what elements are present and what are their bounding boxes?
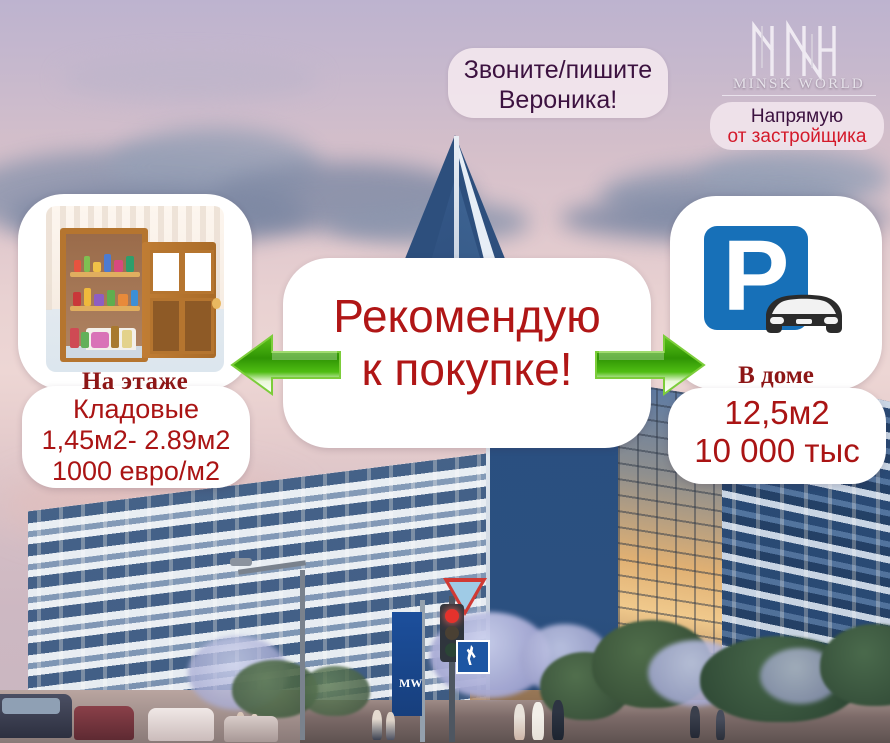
traffic-light-red: [445, 609, 459, 623]
pantry-shelf: [70, 306, 140, 311]
pantry-item: [114, 260, 123, 272]
storage-heading: На этаже: [18, 368, 252, 396]
pantry-item: [104, 254, 111, 272]
pantry-item: [74, 260, 81, 272]
storage-details: Кладовые 1,45м2- 2.89м2 1000 евро/м2: [22, 394, 250, 487]
pedestrian: [514, 704, 525, 740]
car-window: [2, 698, 60, 714]
car-icon: [756, 286, 852, 340]
badge-line-2: от застройщика: [710, 126, 884, 148]
door-wood-panel: [150, 298, 182, 354]
pantry-shelf: [70, 272, 140, 277]
pantry-item: [111, 326, 119, 348]
badge-line-1: Напрямую: [710, 106, 884, 128]
arrow-left-green-icon: [228, 330, 344, 400]
pantry-item: [73, 292, 81, 306]
street-lamp-head: [230, 558, 252, 566]
door-glass-pane: [182, 250, 214, 294]
minsk-world-logo-icon: [742, 16, 854, 82]
contact-bubble-text: Звоните/пишите Вероника!: [448, 55, 668, 115]
pantry-item: [81, 332, 89, 348]
parking-details: 12,5м2 10 000 тыс: [668, 394, 886, 470]
car: [224, 716, 278, 742]
traffic-light-amber: [445, 626, 459, 640]
door-glass-pane: [150, 250, 182, 294]
pantry-item: [94, 294, 104, 306]
pantry-item: [122, 330, 132, 348]
poster-canvas: MW: [0, 0, 890, 743]
pedestrian-crossing-sign-icon: [456, 640, 490, 674]
pantry-item: [126, 256, 134, 272]
pedestrian: [690, 706, 700, 738]
arrow-right-green-icon: [590, 330, 708, 400]
pantry-item: [70, 328, 79, 348]
pantry-item: [118, 294, 128, 306]
pantry-item: [107, 290, 115, 306]
storage-line-3: 1000 евро/м2: [22, 456, 250, 487]
street-lamp-pole: [300, 570, 305, 740]
logo-underline: [722, 95, 876, 96]
car: [0, 694, 72, 738]
storage-line-1: Кладовые: [22, 394, 250, 425]
bubble-line-1: Звоните/пишите: [448, 55, 668, 85]
car: [148, 708, 214, 741]
parking-line-2: 10 000 тыс: [668, 432, 886, 470]
pantry-door-icon: [46, 206, 224, 372]
pantry-item: [84, 288, 91, 306]
pedestrian: [372, 710, 382, 740]
pedestrian: [716, 710, 725, 740]
door-wood-panel: [182, 298, 214, 354]
banner-logo-mark: MW: [399, 676, 415, 696]
pedestrian: [532, 702, 544, 740]
pantry-item: [84, 256, 90, 272]
pantry-item: [93, 262, 101, 272]
street-banner: [392, 612, 422, 716]
pedestrian: [552, 700, 564, 740]
storage-line-2: 1,45м2- 2.89м2: [22, 425, 250, 456]
tree: [300, 666, 370, 716]
pedestrian: [386, 712, 395, 740]
car: [74, 706, 134, 740]
pantry-item: [131, 290, 138, 306]
bubble-line-2: Вероника!: [448, 85, 668, 115]
door-knob: [212, 298, 221, 309]
pantry-item: [91, 332, 109, 348]
logo-wordmark: MINSK WORLD: [716, 76, 882, 93]
